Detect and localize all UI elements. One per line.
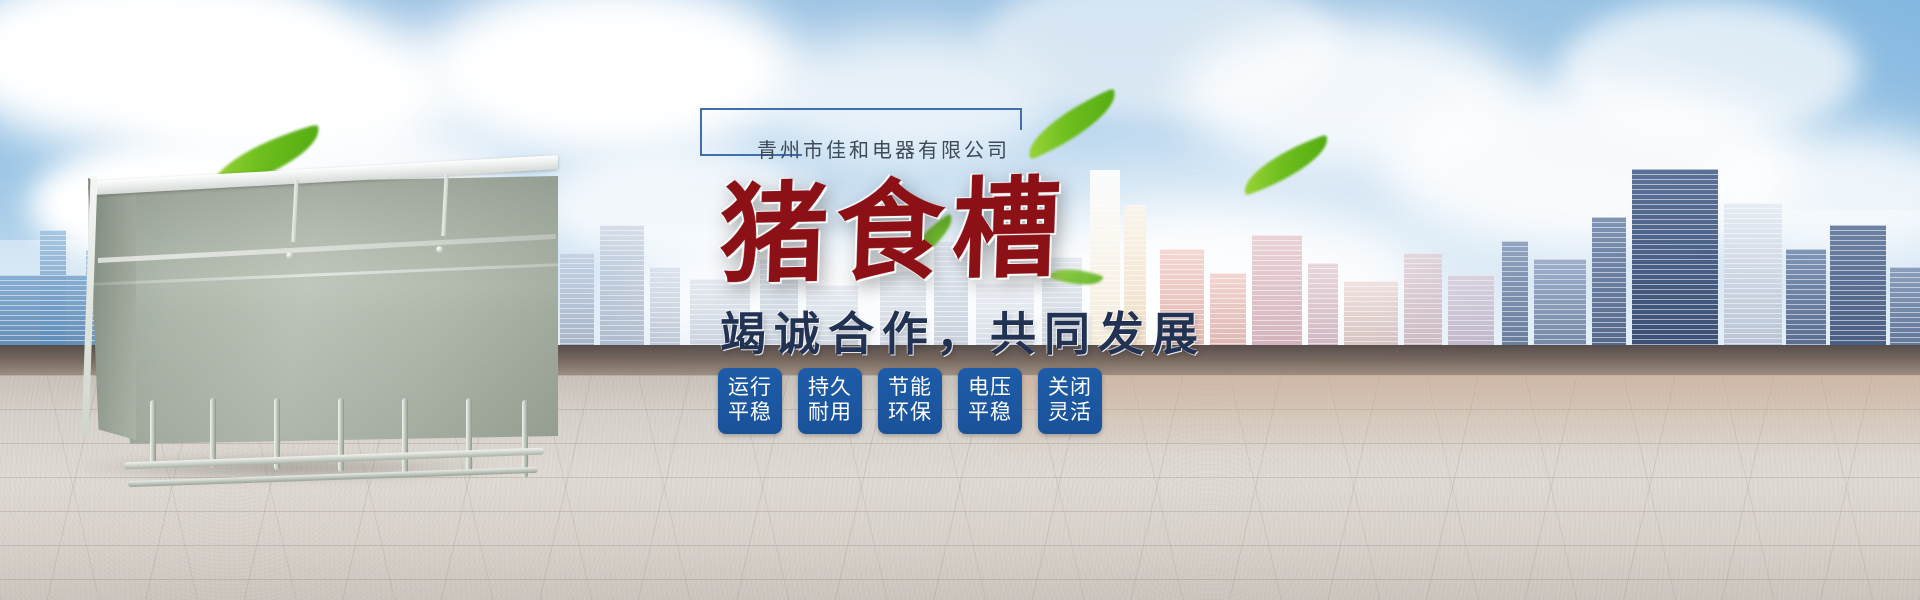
banner-copy: 青州市佳和电器有限公司 猪食槽 竭诚合作，共同发展 运行 平稳 持久 耐用 节能… <box>700 100 1420 570</box>
company-name-frame-top <box>700 108 1022 110</box>
banner-subtitle: 竭诚合作，共同发展 <box>720 298 1206 364</box>
feature-badge-line2: 耐用 <box>808 401 852 426</box>
feature-badge-list: 运行 平稳 持久 耐用 节能 环保 电压 平稳 关闭 灵活 <box>718 368 1102 434</box>
feature-badge[interactable]: 持久 耐用 <box>798 368 862 434</box>
feature-badge-line2: 灵活 <box>1048 401 1092 426</box>
company-name: 青州市佳和电器有限公司 <box>757 134 1010 163</box>
feature-badge-line2: 平稳 <box>728 401 772 426</box>
feature-badge[interactable]: 节能 环保 <box>878 368 942 434</box>
feature-badge-line1: 关闭 <box>1048 376 1092 401</box>
page-title: 猪食槽 <box>718 174 1070 289</box>
feature-badge[interactable]: 运行 平稳 <box>718 368 782 434</box>
feature-badge[interactable]: 电压 平稳 <box>958 368 1022 434</box>
promotional-banner: 青州市佳和电器有限公司 猪食槽 竭诚合作，共同发展 运行 平稳 持久 耐用 节能… <box>0 0 1920 600</box>
feature-badge-line2: 环保 <box>888 401 932 426</box>
company-name-frame-right <box>1020 108 1022 130</box>
product-image-pig-feeder <box>88 168 558 468</box>
feature-badge-line1: 持久 <box>808 376 852 401</box>
feature-badge[interactable]: 关闭 灵活 <box>1038 368 1102 434</box>
feature-badge-line2: 平稳 <box>968 401 1012 426</box>
feature-badge-line1: 电压 <box>968 376 1012 401</box>
feature-badge-line1: 节能 <box>888 376 932 401</box>
feature-badge-line1: 运行 <box>728 376 772 401</box>
